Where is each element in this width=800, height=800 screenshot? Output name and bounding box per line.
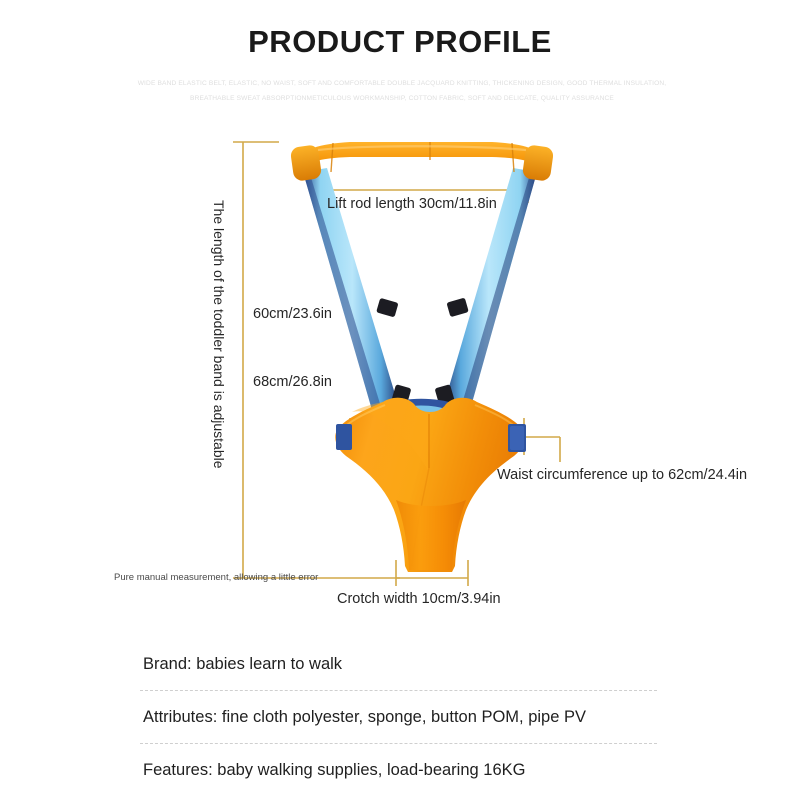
handle-end-right xyxy=(522,144,554,182)
harness-body xyxy=(335,398,524,572)
product-illustration xyxy=(0,0,800,625)
label-lift-rod-length: Lift rod length 30cm/11.8in xyxy=(327,196,497,212)
spec-row-attributes: Attributes: fine cloth polyester, sponge… xyxy=(0,691,800,743)
buckle-right xyxy=(446,298,468,318)
spec-row-brand: Brand: babies learn to walk xyxy=(0,638,800,690)
buckle-left xyxy=(376,298,398,318)
label-waist-circumference: Waist circumference up to 62cm/24.4in xyxy=(497,467,747,483)
spec-list: Brand: babies learn to walk Attributes: … xyxy=(0,638,800,796)
handle-end-left xyxy=(290,144,322,182)
label-measurement-disclaimer: Pure manual measurement, allowing a litt… xyxy=(114,572,318,583)
spec-row-features: Features: baby walking supplies, load-be… xyxy=(0,744,800,796)
product-diagram: Lift rod length 30cm/11.8in 60cm/23.6in … xyxy=(0,0,800,625)
label-band-length-max: 68cm/26.8in xyxy=(253,374,332,390)
label-adjustable-length: The length of the toddler band is adjust… xyxy=(211,200,227,550)
label-band-length-min: 60cm/23.6in xyxy=(253,306,332,322)
label-crotch-width: Crotch width 10cm/3.94in xyxy=(337,591,501,607)
